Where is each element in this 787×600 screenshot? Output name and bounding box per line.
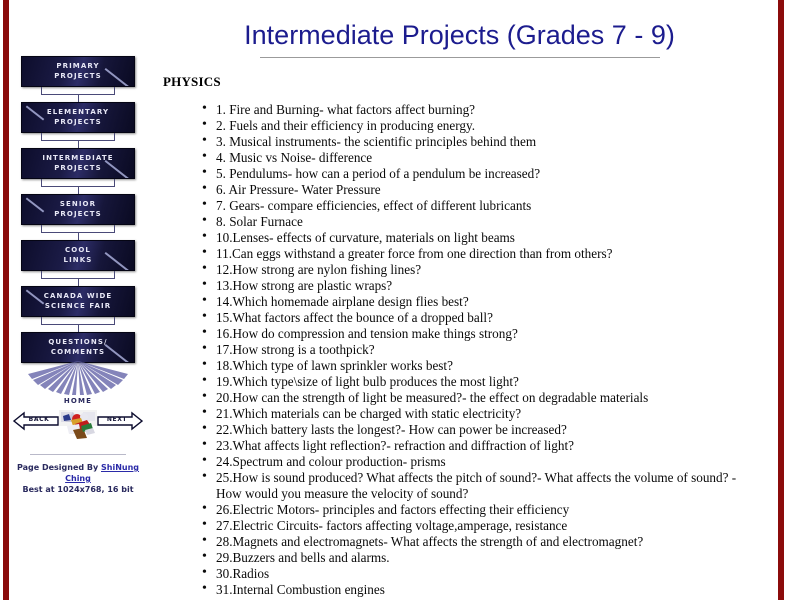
project-idea-item: 31.Internal Combustion engines [202, 582, 775, 598]
footer-resolution-note: Best at 1024x768, 16 bit [12, 484, 144, 495]
sidebar-button-label-line2: Projects [24, 71, 132, 81]
project-idea-item: 1. Fire and Burning- what factors affect… [202, 102, 775, 118]
sidebar-button-label-line1: Senior [24, 199, 132, 209]
sidebar-nav-stack: PrimaryProjectsElementaryProjectsInterme… [12, 0, 144, 363]
project-idea-item: 21.Which materials can be charged with s… [202, 406, 775, 422]
sidebar-button-label-line2: Projects [24, 163, 132, 173]
sidebar-connector [41, 317, 115, 332]
project-idea-item: 4. Music vs Noise- difference [202, 150, 775, 166]
project-idea-item: 7. Gears- compare efficiencies, effect o… [202, 198, 775, 214]
sidebar-button-label-line1: Questions/ [24, 337, 132, 347]
main-content: Intermediate Projects (Grades 7 - 9) PHY… [144, 0, 775, 600]
project-idea-item: 10.Lenses- effects of curvature, materia… [202, 230, 775, 246]
project-idea-item: 14.Which homemade airplane design flies … [202, 294, 775, 310]
next-button-label: NEXT [97, 416, 137, 423]
next-button[interactable]: NEXT [97, 411, 143, 431]
sidebar-connector [41, 87, 115, 102]
sidebar-button-label-line2: Links [24, 255, 132, 265]
footer-designed-by-prefix: Page Designed By [17, 463, 101, 472]
project-idea-item: 26.Electric Motors- principles and facto… [202, 502, 775, 518]
home-icon[interactable] [57, 406, 99, 440]
project-idea-item: 13.How strong are plastic wraps? [202, 278, 775, 294]
project-idea-item: 5. Pendulums- how can a period of a pend… [202, 166, 775, 182]
project-idea-item: 6. Air Pressure- Water Pressure [202, 182, 775, 198]
sidebar-button-label-line1: Primary [24, 61, 132, 71]
section-heading-physics: PHYSICS [163, 74, 775, 90]
project-idea-item: 15.What factors affect the bounce of a d… [202, 310, 775, 326]
sidebar-button-label-line1: Canada Wide [24, 291, 132, 301]
project-idea-item: 18.Which type of lawn sprinkler works be… [202, 358, 775, 374]
project-idea-item: 20.How can the strength of light be meas… [202, 390, 775, 406]
project-idea-item: 2. Fuels and their efficiency in produci… [202, 118, 775, 134]
back-button[interactable]: BACK [13, 411, 59, 431]
project-idea-item: 30.Radios [202, 566, 775, 582]
home-label: HOME [15, 397, 141, 405]
back-button-label: BACK [19, 416, 59, 423]
sidebar-button-cool[interactable]: CoolLinks [21, 240, 135, 271]
sidebar-button-intermediate[interactable]: IntermediateProjects [21, 148, 135, 179]
project-idea-item: 8. Solar Furnace [202, 214, 775, 230]
sidebar-button-label-line2: Projects [24, 117, 132, 127]
sidebar-connector [41, 225, 115, 240]
sidebar-button-canada-wide[interactable]: Canada WideScience Fair [21, 286, 135, 317]
project-idea-item: 22.Which battery lasts the longest?- How… [202, 422, 775, 438]
project-idea-item: 19.Which type\size of light bulb produce… [202, 374, 775, 390]
page-title: Intermediate Projects (Grades 7 - 9) [144, 18, 775, 52]
sidebar-button-label-line2: Science Fair [24, 301, 132, 311]
sidebar-button-label-line1: Elementary [24, 107, 132, 117]
sidebar-connector [41, 133, 115, 148]
footer-designed-by-line: Page Designed By ShiNung Ching [12, 462, 144, 484]
sidebar-button-questions[interactable]: Questions/Comments [21, 332, 135, 363]
sidebar-connector [41, 179, 115, 194]
project-idea-item: 16.How do compression and tension make t… [202, 326, 775, 342]
project-idea-item: 17.How strong is a toothpick? [202, 342, 775, 358]
starburst-decoration [24, 361, 132, 397]
sidebar-connector [41, 271, 115, 286]
page-body: PrimaryProjectsElementaryProjectsInterme… [12, 0, 775, 600]
sidebar-button-label-line2: Projects [24, 209, 132, 219]
sidebar-button-label-line2: Comments [24, 347, 132, 357]
sidebar-button-primary[interactable]: PrimaryProjects [21, 56, 135, 87]
sidebar-button-senior[interactable]: SeniorProjects [21, 194, 135, 225]
project-idea-item: 27.Electric Circuits- factors affecting … [202, 518, 775, 534]
project-idea-item: 29.Buzzers and bells and alarms. [202, 550, 775, 566]
footer: Page Designed By ShiNung Ching Best at 1… [12, 462, 144, 495]
sidebar-button-label-line1: Intermediate [24, 153, 132, 163]
project-idea-list: 1. Fire and Burning- what factors affect… [144, 102, 775, 600]
sidebar-button-label-line1: Cool [24, 245, 132, 255]
project-idea-item: 24.Spectrum and colour production- prism… [202, 454, 775, 470]
project-idea-item: 23.What affects light reflection?- refra… [202, 438, 775, 454]
footer-divider [30, 454, 126, 455]
page-right-stripe [778, 0, 784, 600]
title-divider [260, 57, 660, 58]
project-idea-item: 3. Musical instruments- the scientific p… [202, 134, 775, 150]
project-idea-item: 12.How strong are nylon fishing lines? [202, 262, 775, 278]
project-idea-item: 25.How is sound produced? What affects t… [202, 470, 775, 502]
project-idea-item: 28.Magnets and electromagnets- What affe… [202, 534, 775, 550]
sidebar-button-elementary[interactable]: ElementaryProjects [21, 102, 135, 133]
project-idea-item: 11.Can eggs withstand a greater force fr… [202, 246, 775, 262]
home-navigation-row: HOME [15, 397, 141, 445]
page-left-stripe [3, 0, 9, 600]
sidebar: PrimaryProjectsElementaryProjectsInterme… [12, 0, 144, 495]
